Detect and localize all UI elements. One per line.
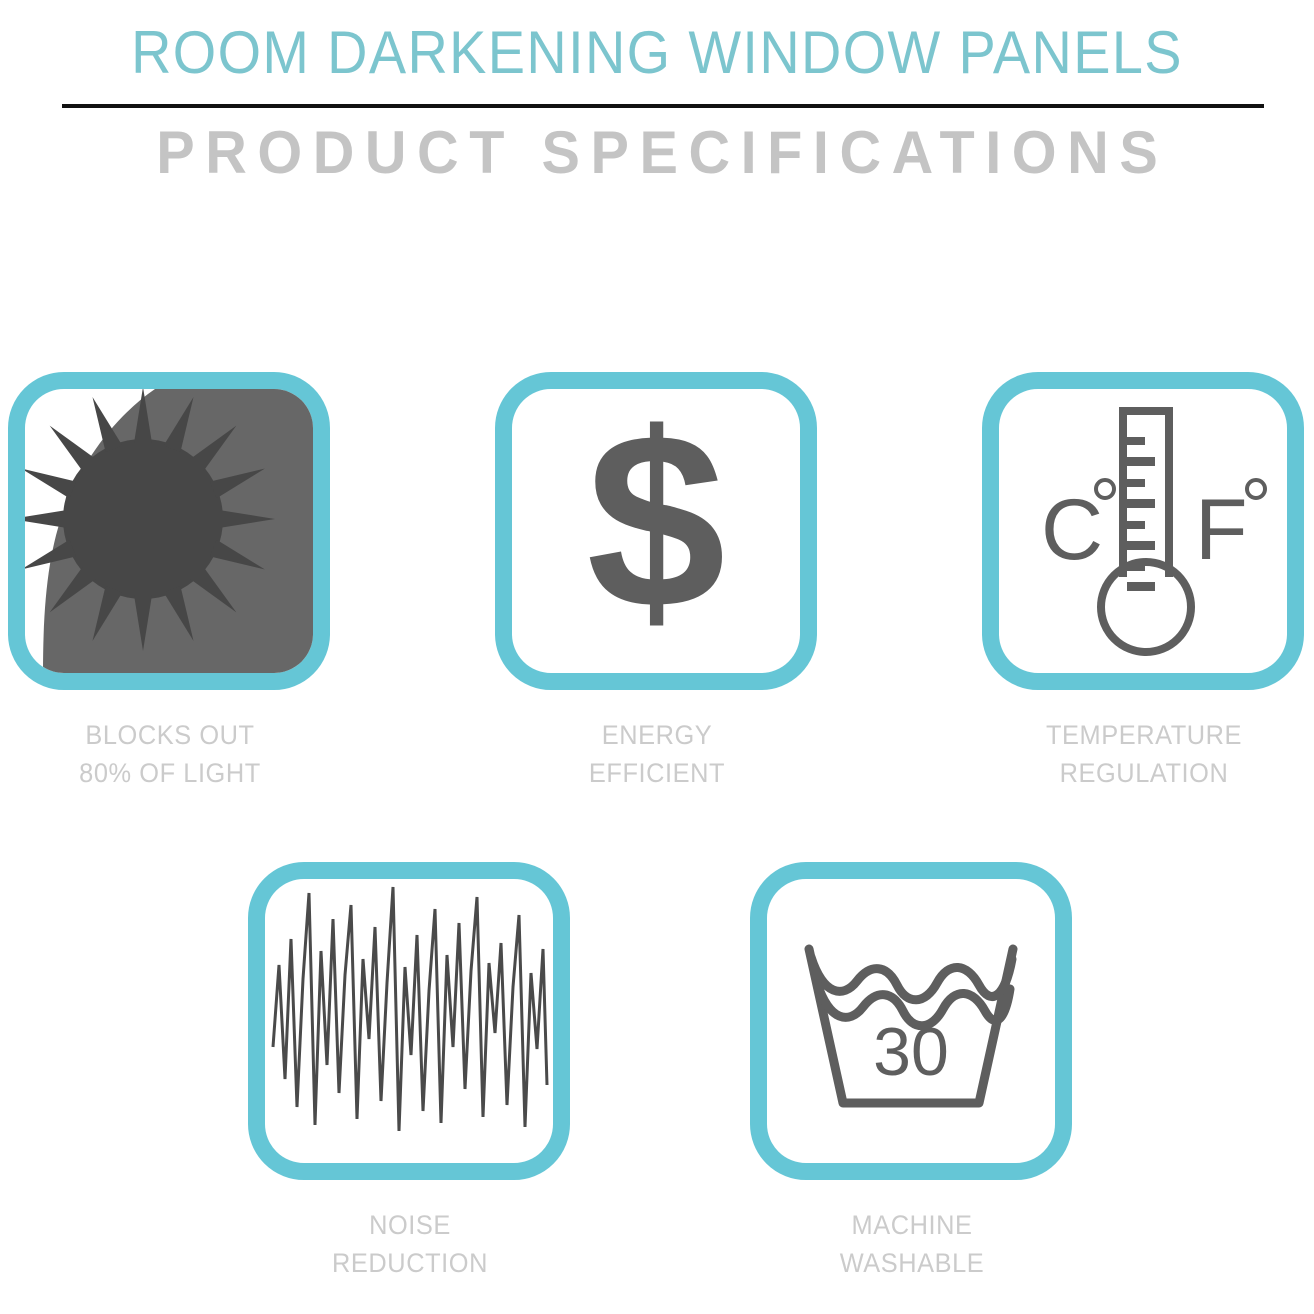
feature-tile xyxy=(8,372,330,690)
page-subtitle: PRODUCT SPECIFICATIONS xyxy=(26,118,1287,187)
feature-caption: NOISE REDUCTION xyxy=(258,1206,563,1283)
svg-text:$: $ xyxy=(586,389,725,660)
blocked-sun-icon xyxy=(25,389,313,673)
feature-tile: C F xyxy=(982,372,1304,690)
caption-line-2: WASHABLE xyxy=(760,1244,1065,1282)
caption-line-1: MACHINE xyxy=(760,1206,1065,1244)
caption-line-2: 80% OF LIGHT xyxy=(18,754,323,792)
dollar-sign-icon: $ xyxy=(512,389,800,673)
feature-machine-washable[interactable]: 30 MACHINE WASHABLE xyxy=(750,862,1074,1283)
caption-line-2: EFFICIENT xyxy=(505,754,810,792)
caption-line-1: BLOCKS OUT xyxy=(18,716,323,754)
thermometer-icon: C F xyxy=(999,389,1287,673)
wash-temperature-value: 30 xyxy=(873,1014,949,1090)
feature-tile: $ xyxy=(495,372,817,690)
thermometer-ticks xyxy=(1127,437,1155,591)
feature-noise-reduction[interactable]: NOISE REDUCTION xyxy=(248,862,572,1283)
title-divider xyxy=(62,104,1264,108)
header: ROOM DARKENING WINDOW PANELS PRODUCT SPE… xyxy=(0,0,1314,200)
feature-tile xyxy=(248,862,570,1180)
caption-line-1: TEMPERATURE xyxy=(992,716,1297,754)
feature-caption: BLOCKS OUT 80% OF LIGHT xyxy=(18,716,323,793)
caption-line-2: REDUCTION xyxy=(258,1244,563,1282)
wash-basin-icon: 30 xyxy=(767,879,1055,1163)
sound-wave-icon xyxy=(265,879,553,1163)
caption-line-1: NOISE xyxy=(258,1206,563,1244)
caption-line-2: REGULATION xyxy=(992,754,1297,792)
feature-temperature-regulation[interactable]: C F TEMPERATURE REGULATION xyxy=(982,372,1306,793)
feature-caption: MACHINE WASHABLE xyxy=(760,1206,1065,1283)
feature-tile: 30 xyxy=(750,862,1072,1180)
svg-text:F: F xyxy=(1195,482,1248,578)
svg-text:C: C xyxy=(1041,482,1103,578)
feature-caption: ENERGY EFFICIENT xyxy=(505,716,810,793)
feature-caption: TEMPERATURE REGULATION xyxy=(992,716,1297,793)
caption-line-1: ENERGY xyxy=(505,716,810,754)
page-title: ROOM DARKENING WINDOW PANELS xyxy=(46,18,1268,87)
feature-energy-efficient[interactable]: $ ENERGY EFFICIENT xyxy=(495,372,819,793)
feature-blocks-light[interactable]: BLOCKS OUT 80% OF LIGHT xyxy=(8,372,332,793)
